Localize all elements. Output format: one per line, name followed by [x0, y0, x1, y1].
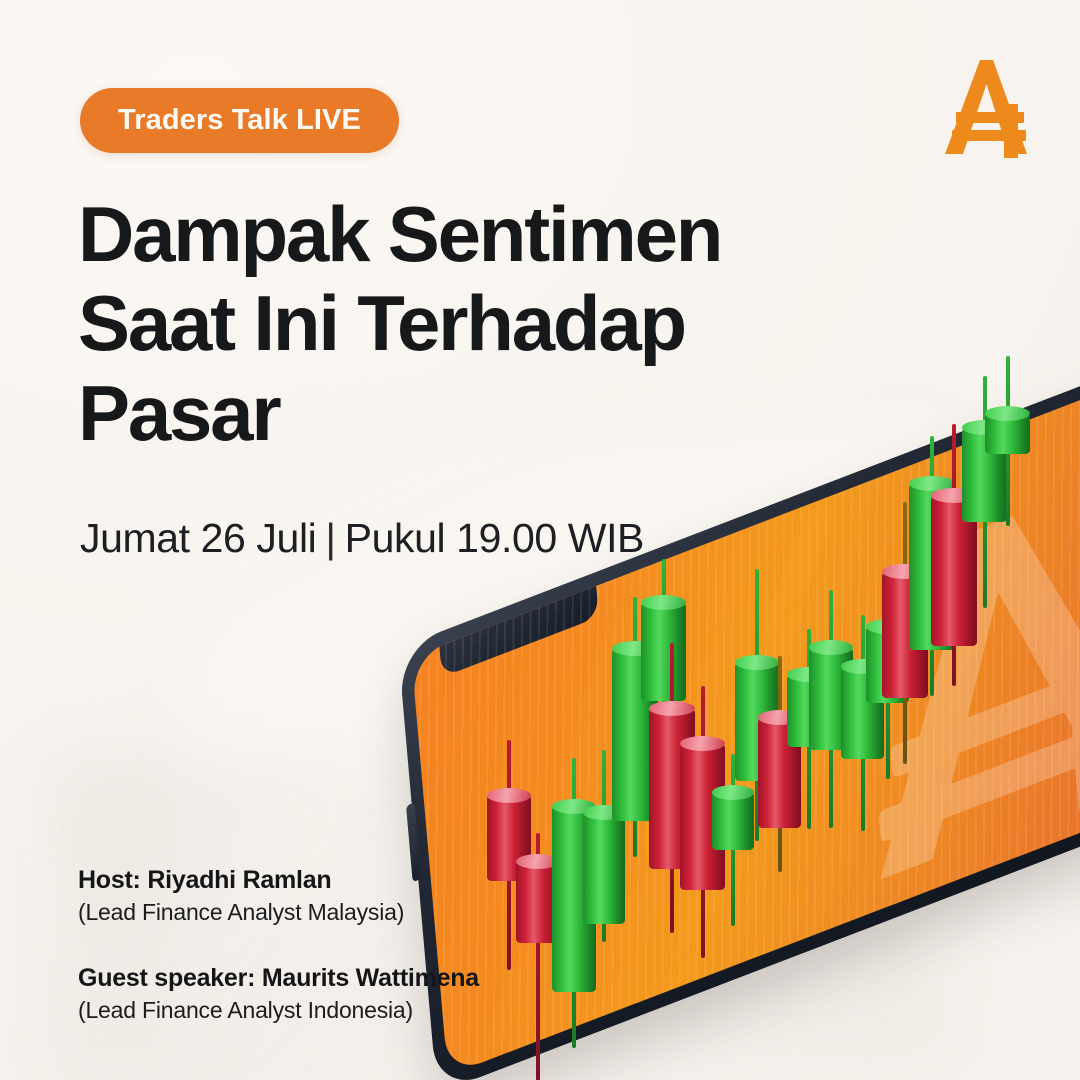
poster-canvas: Traders Talk LIVE Dampak Sentimen Saat I…	[0, 0, 1080, 1080]
speaker-entry: Host: Riyadhi Ramlan (Lead Finance Analy…	[78, 866, 479, 926]
guest-role: (Lead Finance Analyst Indonesia)	[78, 997, 479, 1024]
guest-name: Guest speaker: Maurits Wattimena	[78, 964, 479, 993]
host-name: Host: Riyadhi Ramlan	[78, 866, 479, 895]
speaker-entry: Guest speaker: Maurits Wattimena (Lead F…	[78, 964, 479, 1024]
host-role: (Lead Finance Analyst Malaysia)	[78, 899, 479, 926]
speakers-block: Host: Riyadhi Ramlan (Lead Finance Analy…	[78, 866, 479, 1024]
